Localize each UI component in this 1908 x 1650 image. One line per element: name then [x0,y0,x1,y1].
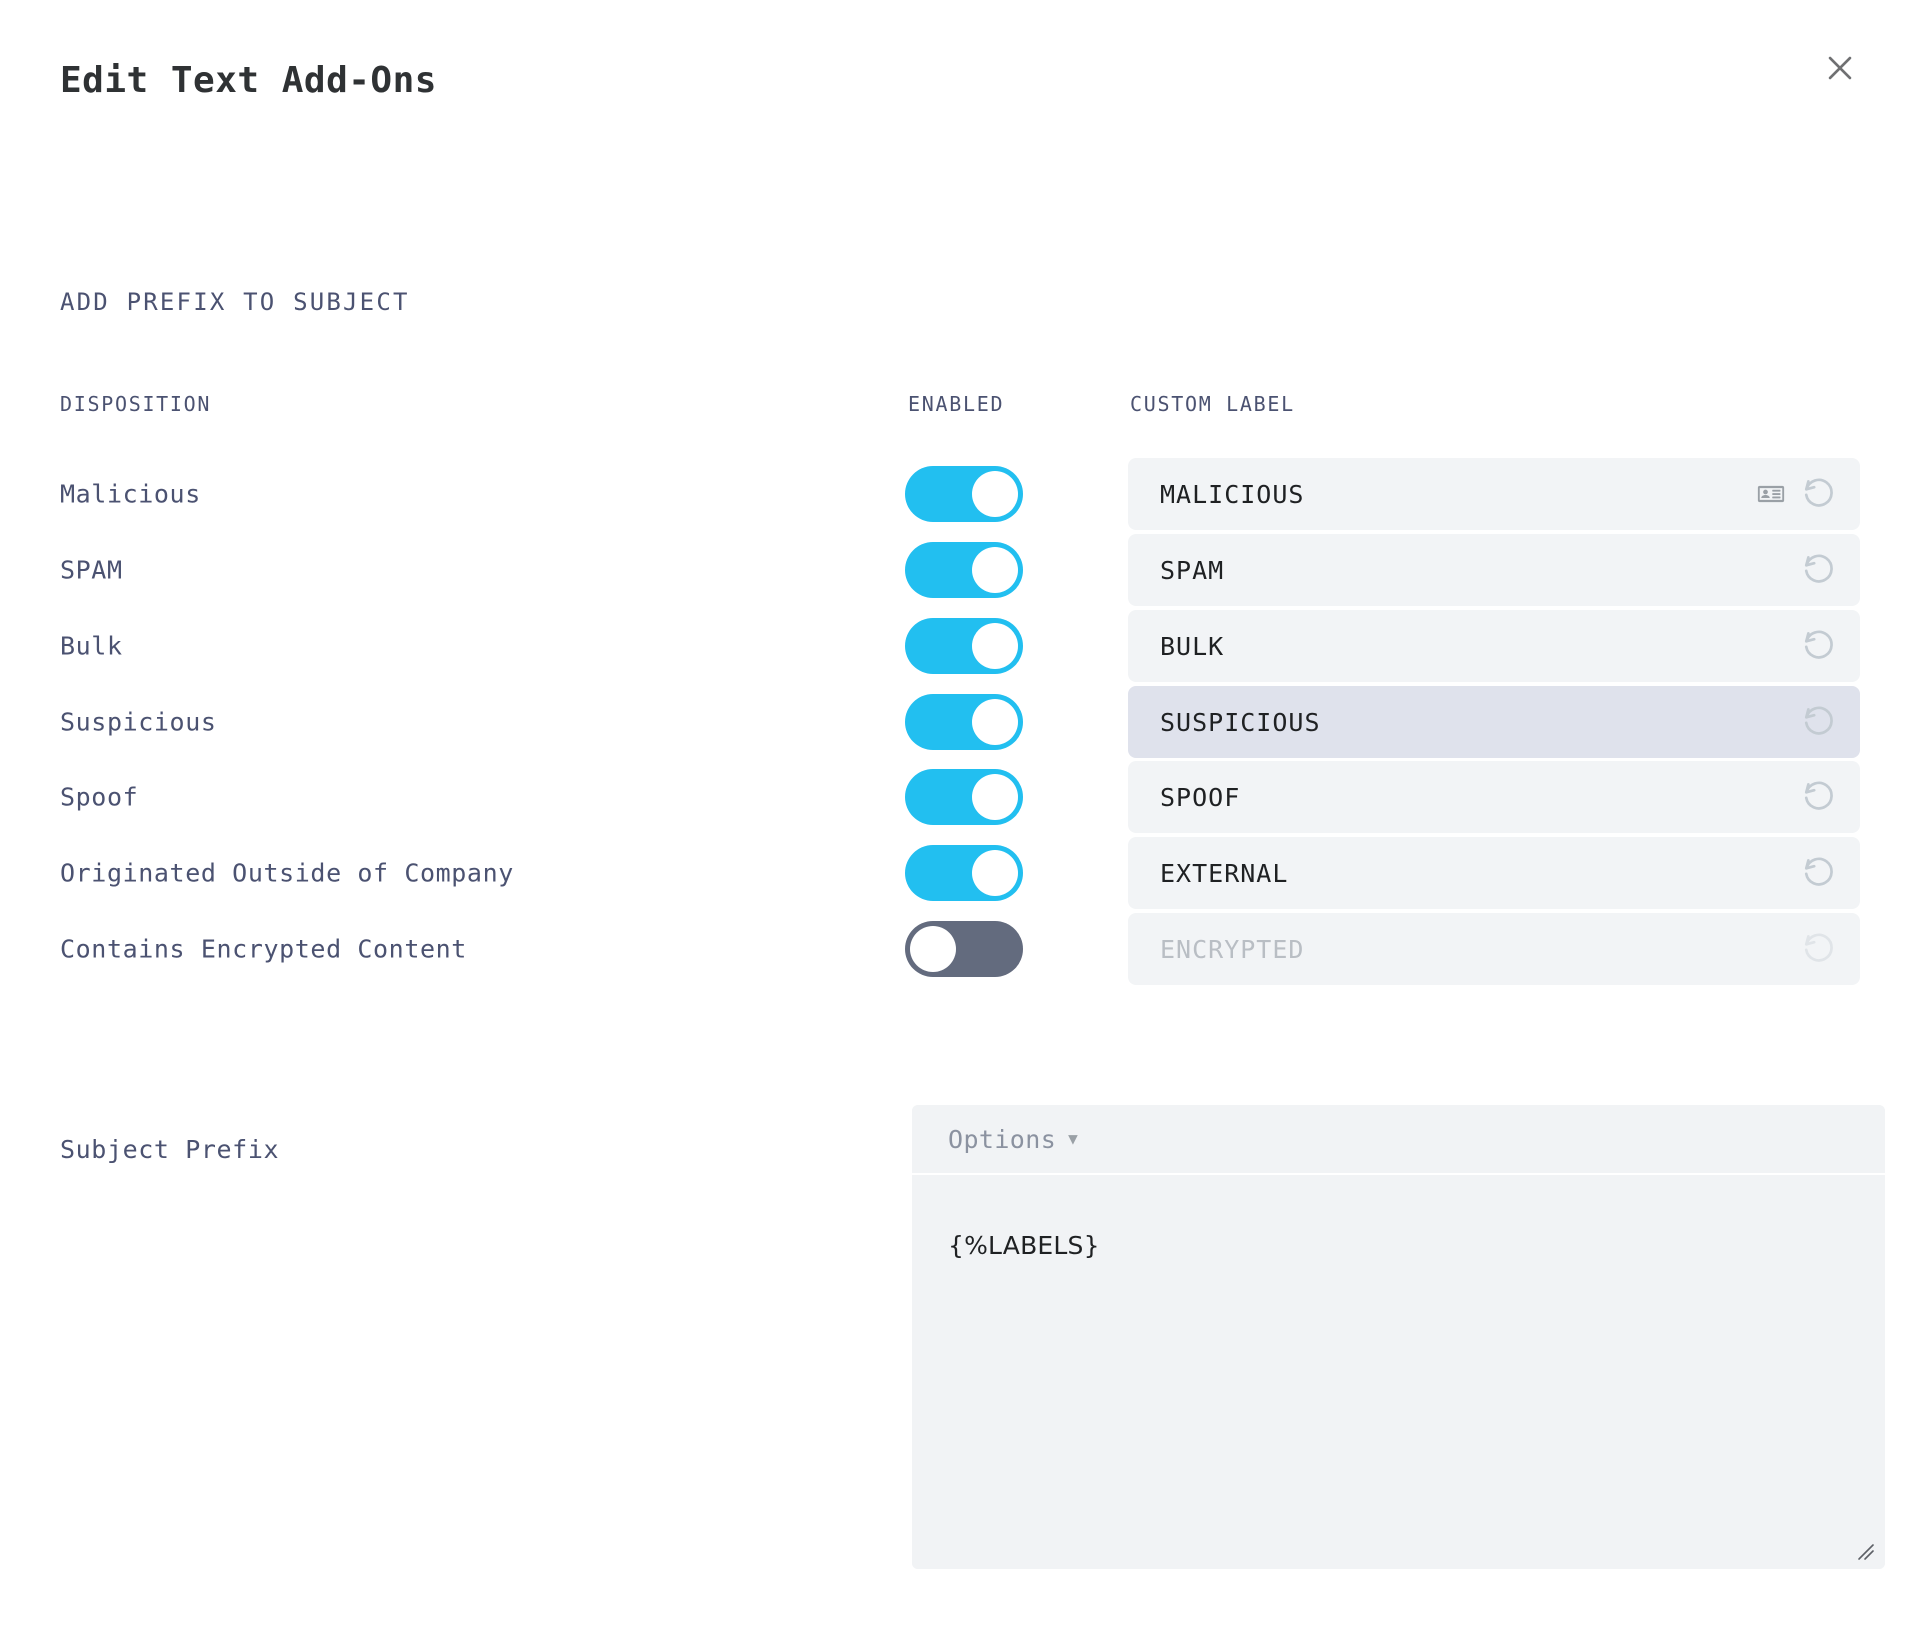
toggle-knob [972,699,1018,745]
toggle-knob [972,774,1018,820]
editor-toolbar: Options ▼ [912,1105,1885,1175]
input-icon-group [1802,932,1836,966]
custom-label-value: ENCRYPTED [1160,935,1304,964]
input-icon-group [1802,856,1836,890]
enabled-toggle[interactable] [905,921,1023,977]
column-header-custom-label: CUSTOM LABEL [1130,392,1295,416]
close-icon [1823,51,1857,85]
toggle-knob [972,471,1018,517]
column-header-disposition: DISPOSITION [60,392,211,416]
disposition-label: SPAM [60,556,123,585]
custom-label-input[interactable]: ENCRYPTED [1128,913,1860,985]
enabled-toggle[interactable] [905,542,1023,598]
enabled-toggle[interactable] [905,618,1023,674]
custom-label-input[interactable]: BULK [1128,610,1860,682]
disposition-label: Suspicious [60,708,217,737]
column-header-enabled: ENABLED [908,392,1004,416]
reset-icon [1802,932,1836,966]
contact-card-icon[interactable] [1756,479,1786,509]
disposition-label: Spoof [60,783,138,812]
custom-label-input[interactable]: SPOOF [1128,761,1860,833]
input-icon-group [1756,477,1836,511]
disposition-label: Originated Outside of Company [60,859,514,888]
reset-icon[interactable] [1802,780,1836,814]
toggle-knob [972,623,1018,669]
page-title: Edit Text Add-Ons [60,60,437,101]
close-button[interactable] [1816,44,1864,92]
disposition-label: Contains Encrypted Content [60,935,467,964]
resize-grip-icon[interactable] [1855,1541,1877,1563]
options-dropdown[interactable]: Options ▼ [948,1125,1078,1154]
enabled-toggle[interactable] [905,466,1023,522]
disposition-label: Bulk [60,632,123,661]
custom-label-input[interactable]: EXTERNAL [1128,837,1860,909]
toggle-knob [910,926,956,972]
input-icon-group [1802,780,1836,814]
options-dropdown-label: Options [948,1125,1056,1154]
reset-icon[interactable] [1802,553,1836,587]
enabled-toggle[interactable] [905,769,1023,825]
input-icon-group [1802,705,1836,739]
section-heading: ADD PREFIX TO SUBJECT [60,288,410,316]
custom-label-value: SPAM [1160,556,1224,585]
reset-icon[interactable] [1802,477,1836,511]
edit-text-addons-dialog: Edit Text Add-Ons ADD PREFIX TO SUBJECT … [0,0,1908,1650]
custom-label-value: SPOOF [1160,783,1240,812]
enabled-toggle[interactable] [905,845,1023,901]
subject-prefix-label: Subject Prefix [60,1135,279,1164]
enabled-toggle[interactable] [905,694,1023,750]
chevron-down-icon: ▼ [1068,1131,1078,1147]
toggle-knob [972,547,1018,593]
input-icon-group [1802,553,1836,587]
custom-label-input[interactable]: SPAM [1128,534,1860,606]
custom-label-value: SUSPICIOUS [1160,708,1321,737]
toggle-knob [972,850,1018,896]
reset-icon[interactable] [1802,856,1836,890]
custom-label-value: MALICIOUS [1160,480,1304,509]
custom-label-value: BULK [1160,632,1224,661]
table-row: Contains Encrypted ContentENCRYPTED [0,903,1908,995]
custom-label-value: EXTERNAL [1160,859,1288,888]
subject-prefix-textarea[interactable]: {%LABELS} [912,1175,1885,1569]
disposition-label: Malicious [60,480,201,509]
subject-prefix-editor: Options ▼ {%LABELS} [912,1105,1885,1569]
subject-prefix-value: {%LABELS} [948,1231,1849,1260]
input-icon-group [1802,629,1836,663]
reset-icon[interactable] [1802,705,1836,739]
custom-label-input[interactable]: SUSPICIOUS [1128,686,1860,758]
custom-label-input[interactable]: MALICIOUS [1128,458,1860,530]
reset-icon[interactable] [1802,629,1836,663]
